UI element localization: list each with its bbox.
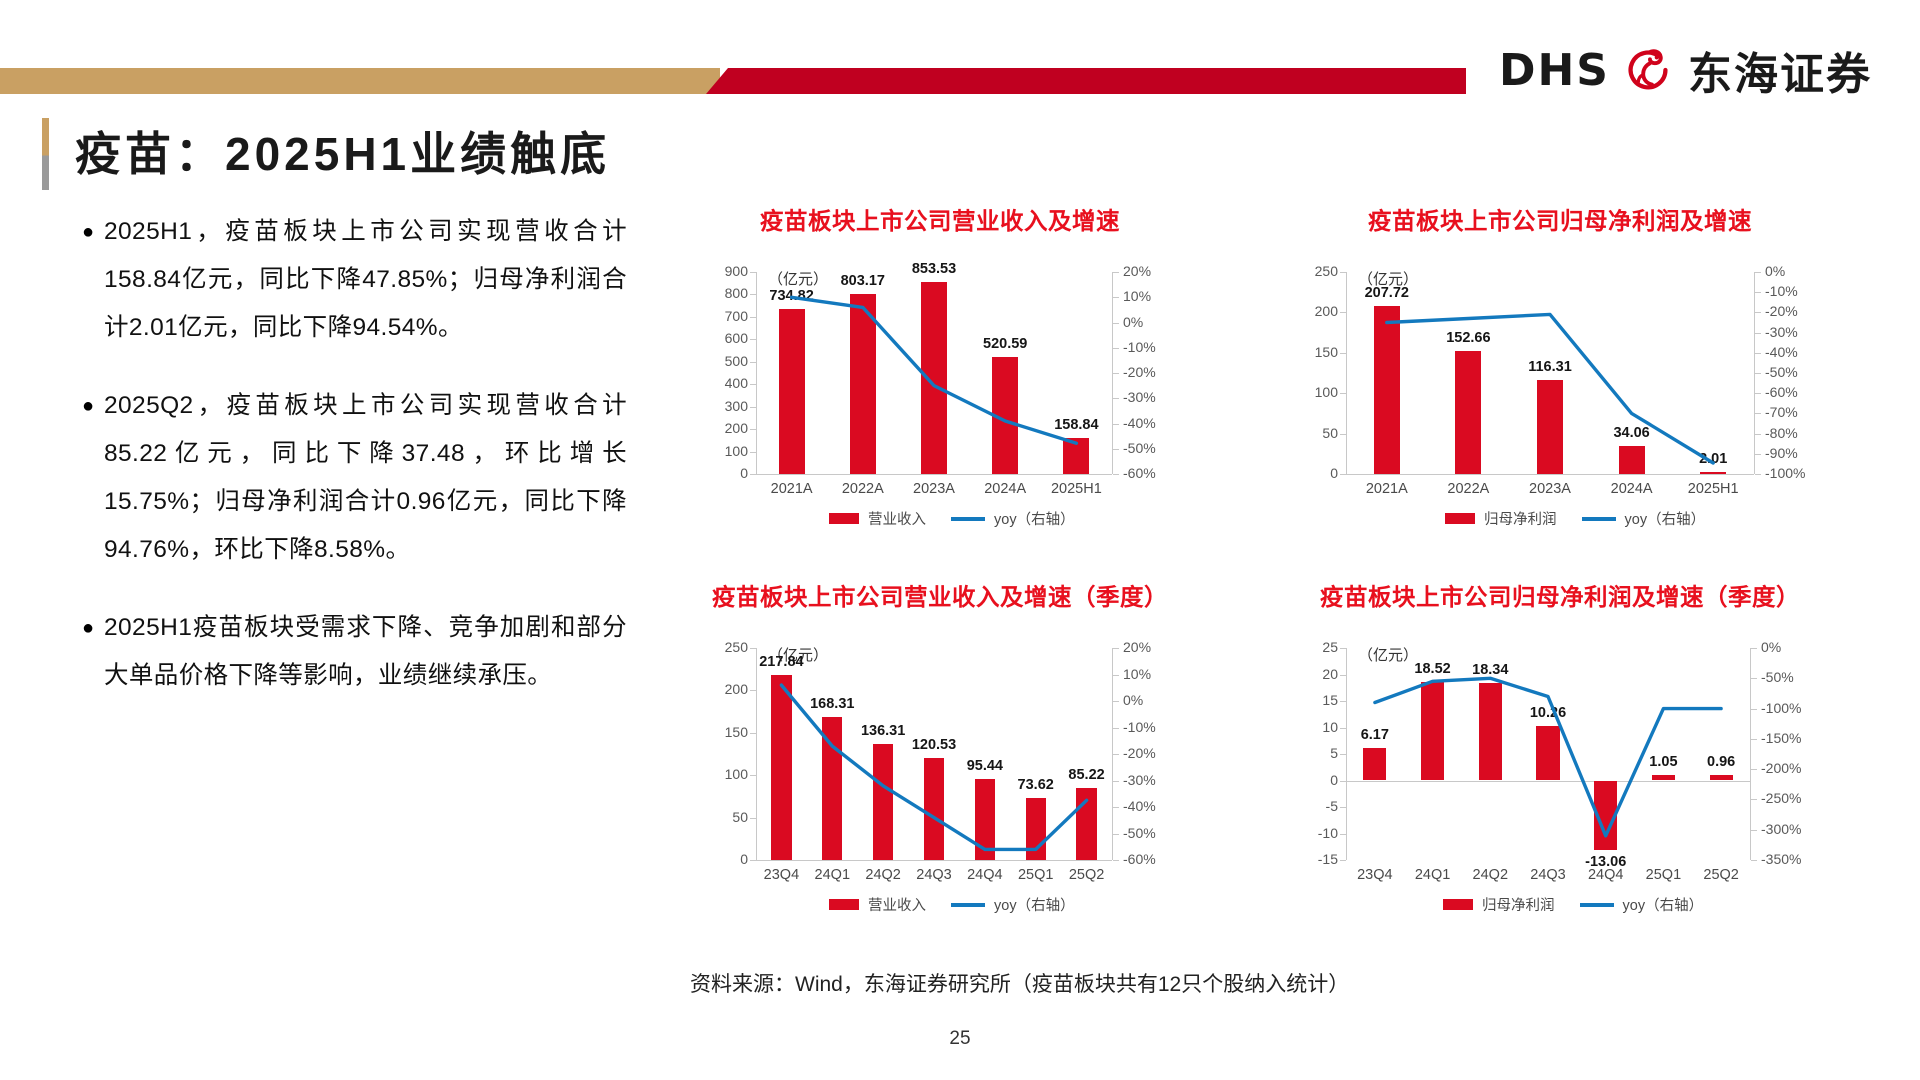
chart-netprofit-annual: 疫苗板块上市公司归母净利润及增速 0501001502002500%-10%-2…: [1280, 202, 1840, 540]
legend-swatch-bar: [829, 513, 859, 524]
bullet-marker-icon: ●: [82, 604, 104, 700]
chart-netprofit-quarterly: 疫苗板块上市公司归母净利润及增速（季度） -15-10-505101520250…: [1280, 578, 1840, 926]
chart-plot-area: 0501001502002500%-10%-20%-30%-40%-50%-60…: [1280, 250, 1840, 540]
legend-swatch-bar: [1443, 899, 1473, 910]
legend-swatch-line: [1582, 517, 1616, 521]
legend-label-line: yoy（右轴）: [1625, 508, 1706, 529]
bullet-list: ● 2025H1，疫苗板块上市公司实现营收合计158.84亿元，同比下降47.8…: [82, 208, 627, 730]
bullet-marker-icon: ●: [82, 382, 104, 574]
legend-swatch-bar: [1445, 513, 1475, 524]
legend-swatch-line: [951, 517, 985, 521]
yoy-line-series: [1280, 250, 1840, 540]
chart-legend: 归母净利润yoy（右轴）: [1445, 508, 1705, 529]
legend-label-line: yoy（右轴）: [994, 508, 1075, 529]
list-item: ● 2025H1，疫苗板块上市公司实现营收合计158.84亿元，同比下降47.8…: [82, 208, 627, 352]
chart-revenue-annual: 疫苗板块上市公司营业收入及增速 010020030040050060070080…: [690, 202, 1190, 540]
chart-title: 疫苗板块上市公司营业收入及增速（季度）: [690, 578, 1190, 612]
legend-label-bar: 营业收入: [868, 894, 926, 915]
header-gold-bar: [0, 68, 720, 94]
header-red-bar: [706, 68, 1466, 94]
title-accent-bar: [42, 118, 49, 190]
chart-legend: 营业收入yoy（右轴）: [829, 894, 1075, 915]
bullet-text: 2025Q2，疫苗板块上市公司实现营收合计85.22亿元，同比下降37.48，环…: [104, 382, 627, 574]
company-logo: DHS 东海证券: [1499, 38, 1872, 102]
logo-text-en: DHS: [1499, 45, 1610, 96]
page-number: 25: [0, 1028, 1920, 1050]
yoy-line-series: [690, 626, 1190, 926]
dragon-seahorse-emblem-icon: [1620, 41, 1678, 99]
chart-title: 疫苗板块上市公司营业收入及增速: [690, 202, 1190, 236]
chart-title: 疫苗板块上市公司归母净利润及增速（季度）: [1280, 578, 1840, 612]
bullet-marker-icon: ●: [82, 208, 104, 352]
chart-plot-area: 05010015020025020%10%0%-10%-20%-30%-40%-…: [690, 626, 1190, 926]
bullet-text: 2025H1疫苗板块受需求下降、竞争加剧和部分大单品价格下降等影响，业绩继续承压…: [104, 604, 627, 700]
list-item: ● 2025H1疫苗板块受需求下降、竞争加剧和部分大单品价格下降等影响，业绩继续…: [82, 604, 627, 700]
page-title: 疫苗：2025H1业绩触底: [42, 118, 610, 190]
legend-label-bar: 营业收入: [868, 508, 926, 529]
legend-swatch-bar: [829, 899, 859, 910]
yoy-line-series: [1280, 626, 1840, 926]
chart-title: 疫苗板块上市公司归母净利润及增速: [1280, 202, 1840, 236]
legend-label-bar: 归母净利润: [1482, 894, 1555, 915]
chart-plot-area: -15-10-505101520250%-50%-100%-150%-200%-…: [1280, 626, 1840, 926]
source-note: 资料来源：Wind，东海证券研究所（疫苗板块共有12只个股纳入统计）: [690, 968, 1349, 998]
legend-swatch-line: [1580, 903, 1614, 907]
title-text: 疫苗：2025H1业绩触底: [75, 118, 610, 190]
chart-revenue-quarterly: 疫苗板块上市公司营业收入及增速（季度） 05010015020025020%10…: [690, 578, 1190, 926]
yoy-line-series: [690, 250, 1190, 540]
legend-label-line: yoy（右轴）: [994, 894, 1075, 915]
legend-label-bar: 归母净利润: [1484, 508, 1557, 529]
chart-legend: 营业收入yoy（右轴）: [829, 508, 1075, 529]
chart-legend: 归母净利润yoy（右轴）: [1443, 894, 1703, 915]
list-item: ● 2025Q2，疫苗板块上市公司实现营收合计85.22亿元，同比下降37.48…: [82, 382, 627, 574]
logo-text-cn: 东海证券: [1688, 38, 1872, 102]
legend-swatch-line: [951, 903, 985, 907]
bullet-text: 2025H1，疫苗板块上市公司实现营收合计158.84亿元，同比下降47.85%…: [104, 208, 627, 352]
legend-label-line: yoy（右轴）: [1623, 894, 1704, 915]
slide-root: DHS 东海证券 疫苗：2025H1业绩触底 ● 2025H1，疫苗板块上市公司…: [0, 0, 1920, 1080]
chart-plot-area: 010020030040050060070080090020%10%0%-10%…: [690, 250, 1190, 540]
